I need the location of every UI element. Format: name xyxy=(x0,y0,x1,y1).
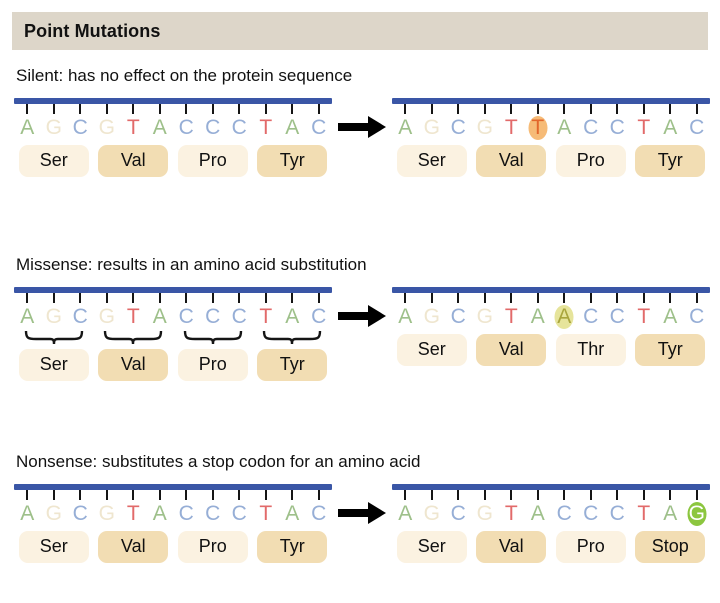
dna-base-letter: T xyxy=(531,116,544,139)
dna-base: A xyxy=(147,115,174,141)
dna-tick xyxy=(41,293,68,303)
dna-base-letter: G xyxy=(99,502,115,525)
dna-tick-mark xyxy=(265,104,267,114)
dna-tick xyxy=(41,104,68,114)
dna-tick-mark xyxy=(404,104,406,114)
codon-cell: Thr xyxy=(551,334,631,366)
dna-base-letter: C xyxy=(451,305,466,328)
dna-base: T xyxy=(498,304,525,330)
dna-tick-mark xyxy=(238,293,240,303)
dna-tick xyxy=(445,490,472,500)
dna-base-letter: A xyxy=(398,116,412,139)
dna-tick-mark xyxy=(185,490,187,500)
dna-tick-mark xyxy=(318,490,320,500)
dna-base-letter: C xyxy=(179,305,194,328)
dna-tick-mark xyxy=(185,104,187,114)
dna-tick xyxy=(14,104,41,114)
dna-base: T xyxy=(498,501,525,527)
dna-tick xyxy=(41,490,68,500)
codon-brace xyxy=(14,331,94,345)
dna-base-letter: C xyxy=(179,116,194,139)
dna-base: C xyxy=(684,115,711,141)
sequence-panel-silent-original: AGCGTACCCTACSerValProTyr xyxy=(14,98,332,177)
amino-acid-label: Pro xyxy=(178,349,248,381)
dna-tick xyxy=(631,490,658,500)
dna-base-letter: A xyxy=(531,305,545,328)
sequence-panel-silent-mutated: AGCGTTACCTACSerValProTyr xyxy=(392,98,710,177)
dna-tick-mark xyxy=(484,490,486,500)
dna-base: C xyxy=(445,304,472,330)
codon-cell: Pro xyxy=(173,145,253,177)
dna-base: A xyxy=(279,304,306,330)
dna-base-letter: A xyxy=(20,502,34,525)
dna-base: C xyxy=(173,501,200,527)
dna-tick xyxy=(67,293,94,303)
dna-tick xyxy=(14,490,41,500)
dna-base: G xyxy=(419,115,446,141)
dna-backbone xyxy=(392,484,710,500)
dna-backbone xyxy=(14,484,332,500)
dna-tick-mark xyxy=(616,104,618,114)
dna-base-letter: C xyxy=(583,305,598,328)
mutation-arrow-silent xyxy=(332,98,392,138)
dna-tick xyxy=(14,293,41,303)
dna-tick xyxy=(120,293,147,303)
dna-base-letter: A xyxy=(398,305,412,328)
sequence-panel-nonsense-mutated: AGCGTACCCTAGSerValProStop xyxy=(392,484,710,563)
dna-base: G xyxy=(41,115,68,141)
dna-base: T xyxy=(253,304,280,330)
dna-tick xyxy=(67,490,94,500)
dna-base-letter: C xyxy=(311,116,326,139)
dna-tick-mark xyxy=(563,104,565,114)
codon-brace xyxy=(173,331,253,345)
dna-tick xyxy=(472,104,499,114)
dna-tick-mark xyxy=(53,104,55,114)
dna-base-mutated: T xyxy=(525,115,552,141)
dna-tick xyxy=(200,293,227,303)
dna-base-letter: T xyxy=(505,502,518,525)
section-caption-silent: Silent: has no effect on the protein seq… xyxy=(0,66,720,86)
dna-tick xyxy=(200,104,227,114)
mutation-row-silent: AGCGTACCCTACSerValProTyr AGCGTTACCTACSer… xyxy=(0,98,720,177)
dna-base-letter: G xyxy=(99,116,115,139)
dna-tick xyxy=(604,293,631,303)
codon-cell: Val xyxy=(472,145,552,177)
dna-base-letter: T xyxy=(637,305,650,328)
dna-tick-mark xyxy=(696,490,698,500)
dna-tick xyxy=(631,293,658,303)
dna-sequence: AGCGTACCCTAG xyxy=(392,501,710,527)
dna-base: C xyxy=(604,304,631,330)
dna-tick xyxy=(67,104,94,114)
dna-tick-mark xyxy=(132,104,134,114)
dna-base-letter: A xyxy=(557,116,571,139)
dna-tick-mark xyxy=(590,490,592,500)
dna-base-letter: C xyxy=(311,502,326,525)
dna-base-letter: C xyxy=(205,116,220,139)
dna-tick xyxy=(578,104,605,114)
codon-cell: Ser xyxy=(14,531,94,563)
codon-cell: Pro xyxy=(551,145,631,177)
dna-base: G xyxy=(419,304,446,330)
dna-base: C xyxy=(200,304,227,330)
dna-base-letter: G xyxy=(46,502,62,525)
dna-base-letter: A xyxy=(20,305,34,328)
mutation-section-silent: Silent: has no effect on the protein seq… xyxy=(0,66,720,177)
codon-cell: Ser xyxy=(14,145,94,177)
amino-acid-label: Ser xyxy=(19,145,89,177)
dna-tick-mark xyxy=(669,104,671,114)
dna-base: T xyxy=(631,501,658,527)
dna-tick-mark xyxy=(431,104,433,114)
dna-tick-mark xyxy=(265,490,267,500)
dna-base-letter: C xyxy=(583,116,598,139)
amino-acid-label: Ser xyxy=(397,145,467,177)
dna-base-letter: C xyxy=(73,502,88,525)
dna-base: A xyxy=(279,501,306,527)
dna-base-letter: A xyxy=(663,502,677,525)
dna-tick-mark xyxy=(291,293,293,303)
codon-row: SerValProTyr xyxy=(392,145,710,177)
dna-tick-mark xyxy=(616,490,618,500)
amino-acid-label: Pro xyxy=(556,531,626,563)
dna-tick-mark xyxy=(238,104,240,114)
dna-tick xyxy=(279,293,306,303)
dna-base: T xyxy=(631,115,658,141)
header-band: Point Mutations xyxy=(12,12,708,50)
dna-sequence: AGCGTTACCTAC xyxy=(392,115,710,141)
dna-tick xyxy=(147,490,174,500)
amino-acid-label: Val xyxy=(476,334,546,366)
dna-base-letter: A xyxy=(557,305,571,328)
codon-row: SerValProTyr xyxy=(14,145,332,177)
dna-base-letter: C xyxy=(610,305,625,328)
dna-base: A xyxy=(551,115,578,141)
dna-backbone xyxy=(14,287,332,303)
dna-tick xyxy=(226,490,253,500)
dna-tick xyxy=(306,293,333,303)
dna-base-letter: A xyxy=(20,116,34,139)
dna-tick xyxy=(657,490,684,500)
dna-base-letter: C xyxy=(451,502,466,525)
dna-base-letter: T xyxy=(637,116,650,139)
dna-base: G xyxy=(94,115,121,141)
dna-tick-mark xyxy=(79,490,81,500)
dna-tick-mark xyxy=(212,490,214,500)
dna-base: G xyxy=(472,501,499,527)
codon-cell: Ser xyxy=(392,531,472,563)
dna-tick-mark xyxy=(159,293,161,303)
dna-base-letter: C xyxy=(451,116,466,139)
dna-tick xyxy=(253,293,280,303)
dna-base: C xyxy=(578,304,605,330)
dna-tick-mark xyxy=(484,104,486,114)
dna-tick-mark xyxy=(53,293,55,303)
dna-base-letter: T xyxy=(127,305,140,328)
dna-tick xyxy=(94,104,121,114)
dna-base-letter: A xyxy=(285,502,299,525)
dna-tick xyxy=(120,490,147,500)
dna-tick-mark xyxy=(404,490,406,500)
dna-tick-mark xyxy=(590,104,592,114)
codon-cell: Val xyxy=(472,531,552,563)
dna-base-letter: G xyxy=(477,305,493,328)
dna-base-letter: C xyxy=(610,116,625,139)
dna-base: C xyxy=(226,501,253,527)
amino-acid-label: Pro xyxy=(178,531,248,563)
dna-tick-mark xyxy=(696,293,698,303)
dna-base: A xyxy=(147,501,174,527)
codon-cell: Val xyxy=(94,145,174,177)
dna-base: T xyxy=(253,115,280,141)
dna-sequence: AGCGTAACCTAC xyxy=(392,304,710,330)
dna-base-mutated: A xyxy=(551,304,578,330)
codon-cell: Pro xyxy=(173,349,253,381)
dna-tick-mark xyxy=(537,104,539,114)
dna-tick xyxy=(684,104,711,114)
dna-sequence: AGCGTACCCTAC xyxy=(14,501,332,527)
dna-tick-mark xyxy=(159,490,161,500)
dna-tick-mark xyxy=(484,293,486,303)
dna-tick xyxy=(253,104,280,114)
dna-tick-mark xyxy=(563,293,565,303)
dna-base: C xyxy=(578,501,605,527)
dna-tick-mark xyxy=(457,104,459,114)
dna-tick xyxy=(94,490,121,500)
codon-cell: Pro xyxy=(173,531,253,563)
dna-tick xyxy=(498,490,525,500)
dna-base-letter: C xyxy=(689,116,704,139)
dna-base: T xyxy=(498,115,525,141)
dna-tick xyxy=(657,104,684,114)
dna-tick xyxy=(392,293,419,303)
dna-base-letter: T xyxy=(259,502,272,525)
dna-base-letter: C xyxy=(610,502,625,525)
dna-tick-mark xyxy=(510,104,512,114)
dna-base-letter: C xyxy=(311,305,326,328)
dna-tick-row xyxy=(14,104,332,114)
dna-sequence: AGCGTACCCTAC xyxy=(14,304,332,330)
dna-tick-mark xyxy=(643,490,645,500)
dna-base: C xyxy=(445,501,472,527)
amino-acid-label: Stop xyxy=(635,531,705,563)
dna-base-letter: C xyxy=(179,502,194,525)
dna-base: T xyxy=(631,304,658,330)
dna-base: C xyxy=(67,304,94,330)
dna-tick-mark xyxy=(106,293,108,303)
dna-tick xyxy=(94,293,121,303)
codon-cell: Tyr xyxy=(631,334,711,366)
dna-base: C xyxy=(173,115,200,141)
dna-base: G xyxy=(419,501,446,527)
dna-base: A xyxy=(392,304,419,330)
codon-cell: Val xyxy=(472,334,552,366)
dna-base-letter: A xyxy=(663,305,677,328)
dna-tick xyxy=(578,293,605,303)
dna-tick-row xyxy=(392,104,710,114)
dna-tick-mark xyxy=(212,293,214,303)
dna-tick xyxy=(498,104,525,114)
mutation-section-nonsense: Nonsense: substitutes a stop codon for a… xyxy=(0,452,720,563)
dna-tick-mark xyxy=(212,104,214,114)
dna-tick-mark xyxy=(318,104,320,114)
section-caption-missense: Missense: results in an amino acid subst… xyxy=(0,255,720,275)
dna-base: C xyxy=(604,115,631,141)
dna-base: T xyxy=(120,304,147,330)
dna-tick xyxy=(306,490,333,500)
dna-tick xyxy=(226,293,253,303)
dna-tick-mark xyxy=(696,104,698,114)
dna-tick xyxy=(306,104,333,114)
dna-tick-mark xyxy=(26,490,28,500)
codon-brace xyxy=(94,331,174,345)
dna-tick-row xyxy=(14,293,332,303)
dna-base-letter: A xyxy=(153,116,167,139)
dna-base: A xyxy=(525,304,552,330)
dna-base-letter: T xyxy=(127,116,140,139)
dna-base-letter: C xyxy=(205,305,220,328)
dna-base-letter: G xyxy=(46,305,62,328)
dna-base-letter: G xyxy=(46,116,62,139)
dna-base-letter: A xyxy=(663,116,677,139)
mutation-section-missense: Missense: results in an amino acid subst… xyxy=(0,255,720,381)
dna-base: C xyxy=(226,304,253,330)
dna-base-letter: G xyxy=(689,502,705,525)
codon-row: SerValThrTyr xyxy=(392,334,710,366)
dna-base-letter: A xyxy=(153,305,167,328)
dna-base-letter: T xyxy=(505,305,518,328)
codon-row: SerValProTyr xyxy=(14,349,332,381)
dna-tick-mark xyxy=(590,293,592,303)
dna-tick-mark xyxy=(26,104,28,114)
dna-base-letter: C xyxy=(205,502,220,525)
dna-tick xyxy=(472,490,499,500)
dna-tick-mark xyxy=(185,293,187,303)
dna-base-letter: G xyxy=(99,305,115,328)
mutation-row-missense: AGCGTACCCTACSerValProTyr AGCGTAACCTACSer… xyxy=(0,287,720,381)
amino-acid-label: Tyr xyxy=(257,145,327,177)
dna-tick xyxy=(445,104,472,114)
dna-base: A xyxy=(392,501,419,527)
dna-tick-mark xyxy=(643,293,645,303)
dna-base-letter: A xyxy=(285,305,299,328)
dna-tick xyxy=(173,293,200,303)
codon-cell: Tyr xyxy=(253,349,333,381)
dna-base-letter: T xyxy=(637,502,650,525)
dna-tick xyxy=(253,490,280,500)
dna-base: C xyxy=(226,115,253,141)
dna-base: G xyxy=(41,501,68,527)
dna-tick xyxy=(684,490,711,500)
mutation-arrow-missense xyxy=(332,287,392,327)
dna-base: A xyxy=(657,501,684,527)
amino-acid-label: Tyr xyxy=(635,145,705,177)
dna-tick-mark xyxy=(510,293,512,303)
dna-base: G xyxy=(94,304,121,330)
dna-tick-mark xyxy=(79,104,81,114)
mutation-arrow-nonsense xyxy=(332,484,392,524)
page-title: Point Mutations xyxy=(12,21,160,42)
dna-base: T xyxy=(120,115,147,141)
dna-tick xyxy=(631,104,658,114)
dna-tick xyxy=(684,293,711,303)
amino-acid-label: Ser xyxy=(19,349,89,381)
dna-base-letter: A xyxy=(153,502,167,525)
dna-base-letter: T xyxy=(259,116,272,139)
dna-base: C xyxy=(173,304,200,330)
dna-tick-mark xyxy=(537,293,539,303)
dna-base: C xyxy=(604,501,631,527)
dna-tick xyxy=(392,104,419,114)
dna-tick xyxy=(147,104,174,114)
dna-tick-mark xyxy=(53,490,55,500)
dna-tick-row xyxy=(392,293,710,303)
dna-tick xyxy=(578,490,605,500)
dna-tick-mark xyxy=(265,293,267,303)
dna-backbone xyxy=(14,98,332,114)
dna-base-letter: G xyxy=(424,305,440,328)
dna-tick-mark xyxy=(669,293,671,303)
dna-tick-row xyxy=(392,490,710,500)
dna-tick-mark xyxy=(510,490,512,500)
codon-cell: Tyr xyxy=(253,145,333,177)
dna-tick-mark xyxy=(457,293,459,303)
dna-tick-mark xyxy=(318,293,320,303)
dna-base: C xyxy=(200,115,227,141)
codon-cell: Val xyxy=(94,349,174,381)
dna-tick xyxy=(525,490,552,500)
dna-tick xyxy=(279,104,306,114)
dna-tick-mark xyxy=(106,490,108,500)
codon-cell: Tyr xyxy=(631,145,711,177)
amino-acid-label: Val xyxy=(98,145,168,177)
dna-base: A xyxy=(657,115,684,141)
dna-tick xyxy=(551,104,578,114)
dna-tick-mark xyxy=(132,293,134,303)
amino-acid-label: Ser xyxy=(397,334,467,366)
dna-base-letter: C xyxy=(232,305,247,328)
dna-tick-row xyxy=(14,490,332,500)
amino-acid-label: Tyr xyxy=(257,349,327,381)
dna-base-letter: C xyxy=(73,116,88,139)
amino-acid-label: Ser xyxy=(397,531,467,563)
dna-tick xyxy=(147,293,174,303)
dna-base: C xyxy=(445,115,472,141)
section-caption-nonsense: Nonsense: substitutes a stop codon for a… xyxy=(0,452,720,472)
codon-cell: Ser xyxy=(14,349,94,381)
dna-base: A xyxy=(392,115,419,141)
dna-base-letter: G xyxy=(477,502,493,525)
dna-base-letter: C xyxy=(73,305,88,328)
codon-cell: Pro xyxy=(551,531,631,563)
dna-tick-mark xyxy=(106,104,108,114)
codon-brace xyxy=(253,331,333,345)
dna-tick xyxy=(173,490,200,500)
dna-base-letter: G xyxy=(477,116,493,139)
dna-base: A xyxy=(147,304,174,330)
dna-base: G xyxy=(94,501,121,527)
dna-tick xyxy=(604,104,631,114)
sequence-panel-missense-mutated: AGCGTAACCTACSerValThrTyr xyxy=(392,287,710,366)
dna-tick xyxy=(120,104,147,114)
dna-base: C xyxy=(551,501,578,527)
dna-tick xyxy=(657,293,684,303)
codon-cell: Stop xyxy=(631,531,711,563)
codon-brace-row xyxy=(14,331,332,345)
dna-base: C xyxy=(306,115,333,141)
codon-cell: Tyr xyxy=(253,531,333,563)
